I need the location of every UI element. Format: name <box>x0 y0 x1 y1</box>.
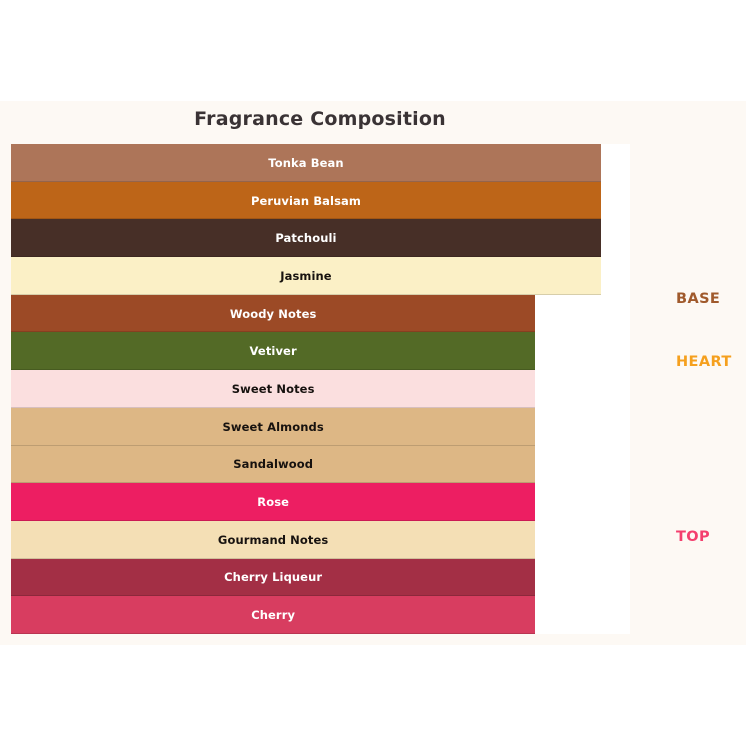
bar[interactable] <box>11 257 601 295</box>
bar[interactable] <box>11 144 601 182</box>
bar[interactable] <box>11 408 535 446</box>
bar[interactable] <box>11 521 535 559</box>
bar-series: Tonka BeanPeruvian BalsamPatchouliJasmin… <box>11 144 630 634</box>
bar-row: Sweet Almonds <box>11 408 630 446</box>
bar-row: Woody Notes <box>11 295 630 333</box>
bar[interactable] <box>11 219 601 257</box>
bar-row: Gourmand Notes <box>11 521 630 559</box>
bar-row: Cherry Liqueur <box>11 559 630 597</box>
chart-title: Fragrance Composition <box>0 108 640 130</box>
group-label-heart: HEART <box>676 354 732 370</box>
group-label-base: BASE <box>676 291 720 307</box>
bar-row: Rose <box>11 483 630 521</box>
bar-row: Tonka Bean <box>11 144 630 182</box>
plot-area: Tonka BeanPeruvian BalsamPatchouliJasmin… <box>11 144 630 634</box>
bar-row: Vetiver <box>11 332 630 370</box>
bar[interactable] <box>11 332 535 370</box>
bar-row: Peruvian Balsam <box>11 182 630 220</box>
group-label-top: TOP <box>676 529 710 545</box>
bar-row: Cherry <box>11 596 630 634</box>
bar[interactable] <box>11 596 535 634</box>
bar-row: Jasmine <box>11 257 630 295</box>
bar[interactable] <box>11 182 601 220</box>
bar[interactable] <box>11 559 535 597</box>
bar-row: Patchouli <box>11 219 630 257</box>
bar-row: Sandalwood <box>11 446 630 484</box>
bar[interactable] <box>11 295 535 333</box>
bar-row: Sweet Notes <box>11 370 630 408</box>
chart-figure: Fragrance Composition Tonka BeanPeruvian… <box>0 101 746 645</box>
bar[interactable] <box>11 446 535 484</box>
bar[interactable] <box>11 483 535 521</box>
bar[interactable] <box>11 370 535 408</box>
